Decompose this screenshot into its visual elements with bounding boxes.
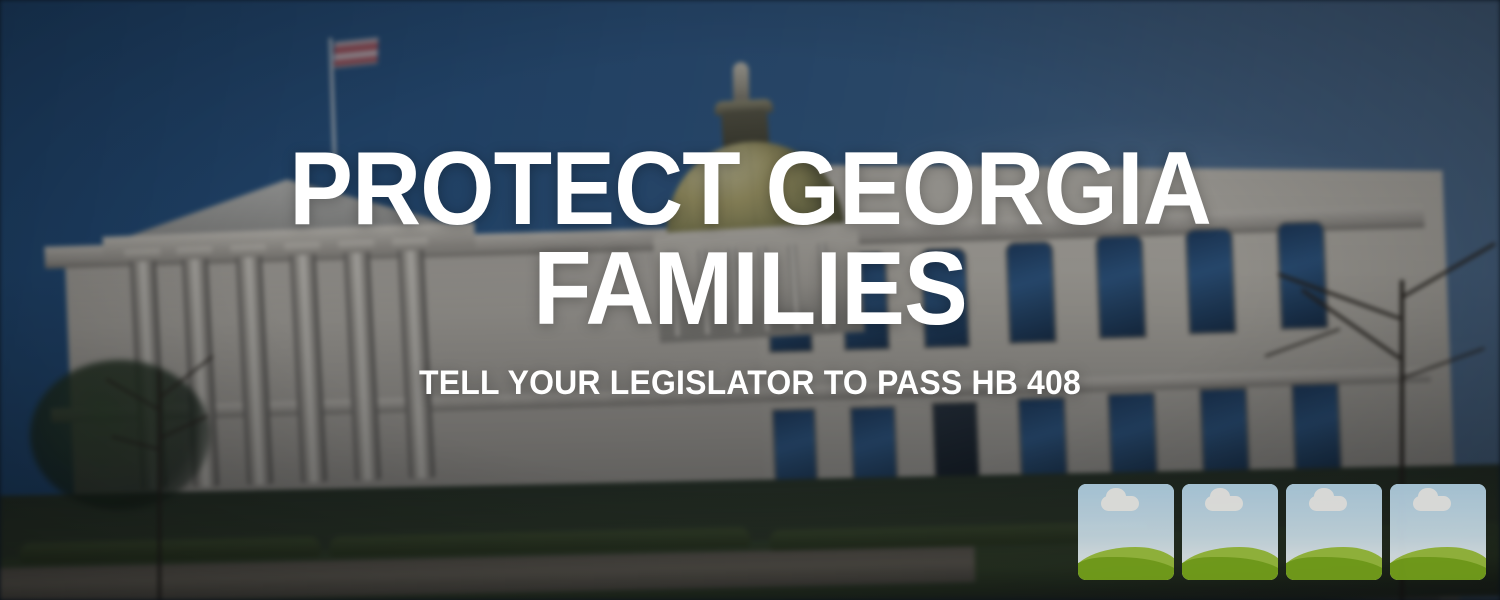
cloud-icon xyxy=(1205,496,1243,511)
cloud-icon xyxy=(1413,496,1451,511)
hero-subtitle: TELL YOUR LEGISLATOR TO PASS HB 408 xyxy=(45,364,1455,403)
cloud-icon xyxy=(1309,496,1347,511)
page-title: PROTECT GEORGIA FAMILIES xyxy=(60,140,1440,340)
placeholder-image-4[interactable] xyxy=(1390,484,1486,580)
placeholder-image-1[interactable] xyxy=(1078,484,1174,580)
hero-copy: PROTECT GEORGIA FAMILIES TELL YOUR LEGIS… xyxy=(0,140,1500,403)
hero-title-line-1: PROTECT GEORGIA xyxy=(289,131,1211,247)
placeholder-image-2[interactable] xyxy=(1182,484,1278,580)
cloud-icon xyxy=(1101,496,1139,511)
placeholder-thumbnail-strip xyxy=(1078,484,1486,580)
hero-banner: PROTECT GEORGIA FAMILIES TELL YOUR LEGIS… xyxy=(0,0,1500,600)
hero-title-line-2: FAMILIES xyxy=(60,240,1440,340)
placeholder-image-3[interactable] xyxy=(1286,484,1382,580)
